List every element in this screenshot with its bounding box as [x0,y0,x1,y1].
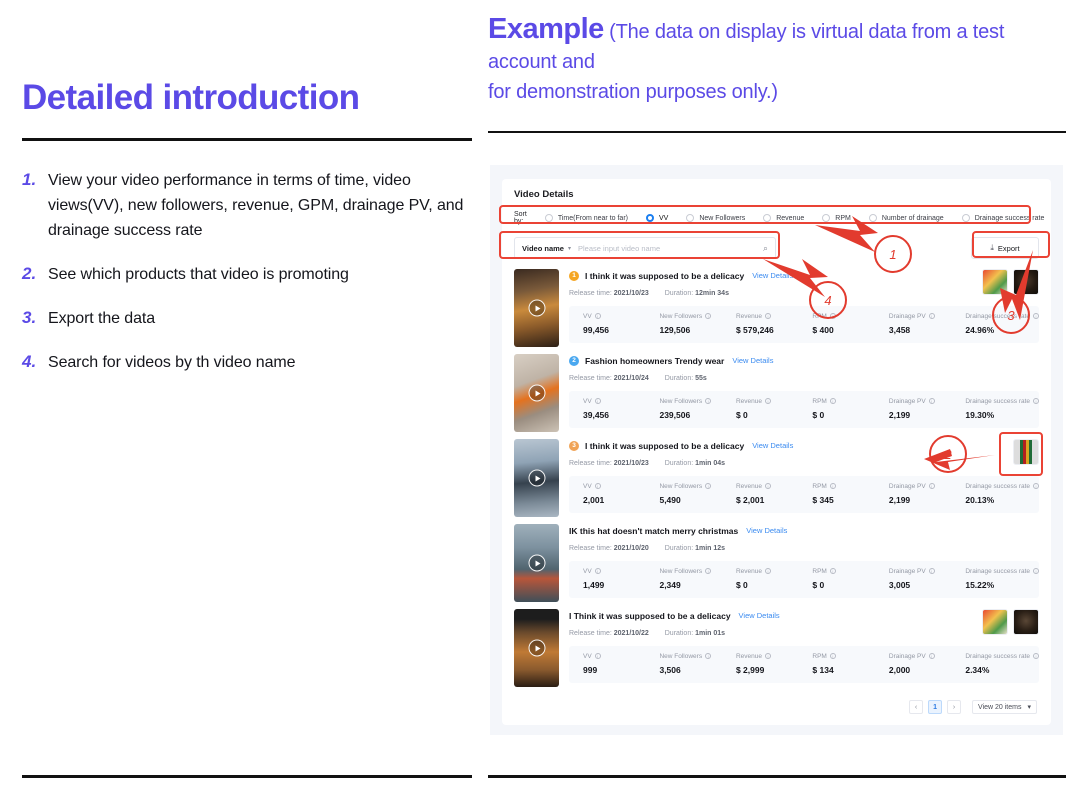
metric-rpm: RPMi $ 400 [798,313,874,335]
sort-option-new-followers[interactable]: New Followers [686,214,745,222]
export-button-label: Export [998,244,1020,253]
video-thumbnail[interactable] [514,524,559,602]
items-per-page-select[interactable]: View 20 items ▾ [972,700,1037,714]
metric-label: Drainage success rate [965,313,1030,320]
metric-label: VV [583,398,592,405]
metric-revenue: Revenuei $ 2,999 [722,653,798,675]
info-icon[interactable]: i [929,398,935,404]
play-icon[interactable] [528,470,545,487]
duration-value: 55s [695,375,707,382]
video-info: 1 I think it was supposed to be a delica… [559,269,1039,352]
example-heading-line1: Example (The data on display is virtual … [488,14,1066,77]
view-details-link[interactable]: View Details [746,526,787,535]
list-item-text: View your video performance in terms of … [48,168,467,243]
duration-label: Duration: [665,545,693,552]
slide-root: Detailed introduction 1. View your video… [0,0,1073,799]
metrics-strip: VVi 999 New Followersi 3,506 Revenuei $ … [569,646,1039,683]
metric-new-followers: New Followersi 3,506 [645,653,721,675]
release-time-value: 2021/10/20 [614,545,649,552]
video-details-panel: Video Details Sort by: Time(From near to… [502,179,1051,725]
metric-drainage-pv: Drainage PVi 2,199 [875,398,951,420]
metric-label: Revenue [736,313,762,320]
metric-value: 19.30% [965,410,1039,420]
metric-rpm: RPMi $ 0 [798,568,874,590]
search-placeholder: Please input video name [578,244,763,253]
metric-label: New Followers [659,653,702,660]
duration-value: 1min 01s [695,630,725,637]
list-item: 1. View your video performance in terms … [22,168,467,243]
sort-option-label: VV [659,215,668,222]
list-item-text: Export the data [48,306,155,331]
info-icon[interactable]: i [830,313,836,319]
metrics-strip: VVi 39,456 New Followersi 239,506 Revenu… [569,391,1039,428]
metric-value: 3,506 [659,665,721,675]
example-heading-line2: for demonstration purposes only.) [488,77,1066,107]
sort-option-number-of-drainage[interactable]: Number of drainage [869,214,944,222]
search-input[interactable]: Video name ▾ Please input video name ⌕ [514,237,776,259]
view-details-link[interactable]: View Details [739,611,780,620]
table-row[interactable]: IK this hat doesn't match merry christma… [514,524,1039,607]
sort-bar[interactable]: Sort by: Time(From near to far) VV New F… [514,210,1039,226]
video-meta: Release time: 2021/10/23 Duration: 12min… [569,290,1039,297]
sort-option-label: RPM [835,215,851,222]
metric-drainage-success-rate: Drainage success ratei 2.34% [951,653,1039,675]
metric-label: RPM [812,653,826,660]
metric-value: 15.22% [965,580,1039,590]
metric-drainage-pv: Drainage PVi 2,000 [875,653,951,675]
metric-value: 5,490 [659,495,721,505]
info-icon[interactable]: i [765,313,771,319]
metric-value: 2,000 [889,665,951,675]
info-icon[interactable]: i [929,483,935,489]
video-title: I think it was supposed to be a delicacy [585,441,744,451]
metric-value: $ 134 [812,665,874,675]
metric-value: 39,456 [583,410,645,420]
info-icon[interactable]: i [929,568,935,574]
info-icon[interactable]: i [765,568,771,574]
metric-value: 1,499 [583,580,645,590]
info-icon[interactable]: i [1033,313,1039,319]
metric-label: Drainage success rate [965,483,1030,490]
video-info: 2 Fashion homeowners Trendy wear View De… [559,354,1039,437]
metric-label: VV [583,568,592,575]
duration-label: Duration: [665,375,693,382]
metric-label: New Followers [659,568,702,575]
release-time-value: 2021/10/23 [614,460,649,467]
chevron-down-icon[interactable]: ▾ [568,245,571,252]
video-meta: Release time: 2021/10/20 Duration: 1min … [569,545,1039,552]
list-item: 2. See which products that video is prom… [22,262,467,287]
metric-vv: VVi 999 [569,653,645,675]
metric-label: Drainage PV [889,568,926,575]
left-panel: Detailed introduction 1. View your video… [0,0,480,799]
sort-option-revenue[interactable]: Revenue [763,214,804,222]
metric-label: VV [583,313,592,320]
sort-by-label: Sort by: [514,211,527,225]
metric-label: New Followers [659,398,702,405]
list-item-number: 4. [22,350,48,374]
duration-value: 1min 04s [695,460,725,467]
sort-option-label: Time(From near to far) [558,215,628,222]
video-info: IK this hat doesn't match merry christma… [559,524,1039,607]
release-time-value: 2021/10/23 [614,290,649,297]
video-thumbnail[interactable] [514,609,559,687]
radio-icon[interactable] [545,214,553,222]
video-title-row: 1 I think it was supposed to be a delica… [569,269,1039,282]
metric-value: 2,001 [583,495,645,505]
metric-vv: VVi 99,456 [569,313,645,335]
metric-revenue: Revenuei $ 2,001 [722,483,798,505]
release-time-label: Release time: [569,630,612,637]
metric-value: $ 0 [812,580,874,590]
metric-value: 2,349 [659,580,721,590]
metric-new-followers: New Followersi 2,349 [645,568,721,590]
metrics-strip: VVi 1,499 New Followersi 2,349 Revenuei … [569,561,1039,598]
metric-value: 2.34% [965,665,1039,675]
metric-value: 99,456 [583,325,645,335]
duration-value: 12min 34s [695,290,729,297]
info-icon[interactable]: i [830,653,836,659]
rank-badge: 1 [569,271,579,281]
sort-option-label: Number of drainage [882,215,944,222]
info-icon[interactable]: i [705,398,711,404]
metric-vv: VVi 39,456 [569,398,645,420]
items-per-page-label: View 20 items [978,704,1021,711]
export-button[interactable]: ⤓ Export [971,237,1039,259]
sort-option-time[interactable]: Time(From near to far) [545,214,628,222]
table-row[interactable]: 3 I think it was supposed to be a delica… [514,439,1039,522]
video-meta: Release time: 2021/10/22 Duration: 1min … [569,630,1039,637]
page-title: Detailed introduction [22,78,359,118]
duration-value: 1min 12s [695,545,725,552]
info-icon[interactable]: i [830,568,836,574]
footer-divider-right [488,775,1066,778]
product-list [982,269,1039,295]
list-item-number: 1. [22,168,48,192]
info-icon[interactable]: i [705,313,711,319]
info-icon[interactable]: i [595,398,601,404]
list-item-number: 2. [22,262,48,286]
product-thumbnail[interactable] [982,609,1008,635]
release-time-label: Release time: [569,545,612,552]
metric-value: 24.96% [965,325,1039,335]
metric-revenue: Revenuei $ 0 [722,398,798,420]
metric-new-followers: New Followersi 5,490 [645,483,721,505]
metric-drainage-success-rate: Drainage success ratei 24.96% [951,313,1039,335]
release-time-value: 2021/10/24 [614,375,649,382]
radio-icon[interactable] [822,214,830,222]
metric-label: RPM [812,313,826,320]
table-row[interactable]: 2 Fashion homeowners Trendy wear View De… [514,354,1039,437]
metric-label: RPM [812,568,826,575]
video-title: Fashion homeowners Trendy wear [585,356,724,366]
video-thumbnail[interactable] [514,269,559,347]
product-thumbnail[interactable] [1013,269,1039,295]
info-icon[interactable]: i [1033,568,1039,574]
video-title: I think it was supposed to be a delicacy [585,271,744,281]
metric-vv: VVi 1,499 [569,568,645,590]
info-icon[interactable]: i [595,568,601,574]
prev-page-button[interactable]: ‹ [909,700,923,714]
app-screenshot: Video Details Sort by: Time(From near to… [490,165,1063,735]
metric-rpm: RPMi $ 134 [798,653,874,675]
info-icon[interactable]: i [705,568,711,574]
video-title: IK this hat doesn't match merry christma… [569,526,738,536]
metric-label: VV [583,653,592,660]
heading-divider [488,131,1066,133]
product-list [982,609,1039,635]
metric-rpm: RPMi $ 0 [798,398,874,420]
metric-value: $ 345 [812,495,874,505]
view-details-link[interactable]: View Details [752,271,793,280]
video-meta: Release time: 2021/10/24 Duration: 55s [569,375,1039,382]
info-icon[interactable]: i [830,398,836,404]
metric-drainage-pv: Drainage PVi 3,458 [875,313,951,335]
radio-icon[interactable] [962,214,970,222]
info-icon[interactable]: i [765,483,771,489]
metric-label: Revenue [736,653,762,660]
download-icon: ⤓ [990,243,994,253]
play-icon[interactable] [528,300,545,317]
metrics-strip: VVi 2,001 New Followersi 5,490 Revenuei … [569,476,1039,513]
metric-label: Revenue [736,398,762,405]
pagination: ‹ 1 › View 20 items ▾ [514,700,1039,714]
list-item-text: Search for videos by th video name [48,350,295,375]
metric-label: Drainage success rate [965,568,1030,575]
release-time-label: Release time: [569,375,612,382]
video-info: 3 I think it was supposed to be a delica… [559,439,1039,522]
rank-badge: 3 [569,441,579,451]
metric-vv: VVi 2,001 [569,483,645,505]
search-field-selector[interactable]: Video name [522,244,564,253]
duration-label: Duration: [665,290,693,297]
metric-label: Drainage PV [889,483,926,490]
metric-value: $ 0 [736,580,798,590]
table-row[interactable]: I Think it was supposed to be a delicacy… [514,609,1039,692]
product-thumbnail[interactable] [982,269,1008,295]
info-icon[interactable]: i [1033,398,1039,404]
metric-label: RPM [812,483,826,490]
list-item: 4. Search for videos by th video name [22,350,467,375]
search-toolbar: Video name ▾ Please input video name ⌕ ⤓… [514,237,1039,259]
release-time-label: Release time: [569,290,612,297]
metric-drainage-success-rate: Drainage success ratei 20.13% [951,483,1039,505]
metric-label: Drainage PV [889,313,926,320]
video-title-row: I Think it was supposed to be a delicacy… [569,609,1039,622]
metric-new-followers: New Followersi 129,506 [645,313,721,335]
metric-value: 20.13% [965,495,1039,505]
metric-label: New Followers [659,483,702,490]
metric-value: 2,199 [889,495,951,505]
metric-drainage-success-rate: Drainage success ratei 15.22% [951,568,1039,590]
duration-label: Duration: [665,630,693,637]
metric-new-followers: New Followersi 239,506 [645,398,721,420]
panel-title: Video Details [514,189,1039,200]
metric-label: VV [583,483,592,490]
radio-icon[interactable] [686,214,694,222]
metric-value: $ 2,001 [736,495,798,505]
metric-value: 239,506 [659,410,721,420]
product-list [1013,439,1039,465]
info-icon[interactable]: i [705,483,711,489]
info-icon[interactable]: i [830,483,836,489]
info-icon[interactable]: i [595,653,601,659]
metric-label: New Followers [659,313,702,320]
metrics-strip: VVi 99,456 New Followersi 129,506 Revenu… [569,306,1039,343]
product-thumbnail[interactable] [1013,439,1039,465]
play-icon[interactable] [528,385,545,402]
info-icon[interactable]: i [929,653,935,659]
release-time-label: Release time: [569,460,612,467]
video-title-row: 2 Fashion homeowners Trendy wear View De… [569,354,1039,367]
view-details-link[interactable]: View Details [732,356,773,365]
play-icon[interactable] [528,555,545,572]
info-icon[interactable]: i [1033,483,1039,489]
duration-label: Duration: [665,460,693,467]
info-icon[interactable]: i [765,653,771,659]
info-icon[interactable]: i [595,313,601,319]
radio-icon[interactable] [869,214,877,222]
radio-icon[interactable] [763,214,771,222]
sort-option-label: Drainage success rate [975,215,1045,222]
metric-label: Drainage success rate [965,398,1030,405]
example-heading: Example (The data on display is virtual … [488,14,1066,107]
example-label: Example [488,13,604,45]
metric-label: Drainage success rate [965,653,1030,660]
info-icon[interactable]: i [595,483,601,489]
page-number-1[interactable]: 1 [928,700,942,714]
next-page-button[interactable]: › [947,700,961,714]
video-meta: Release time: 2021/10/23 Duration: 1min … [569,460,1039,467]
sort-option-rpm[interactable]: RPM [822,214,851,222]
product-thumbnail[interactable] [1013,609,1039,635]
rank-badge: 2 [569,356,579,366]
right-panel: Example (The data on display is virtual … [480,0,1073,799]
sort-option-drainage-success-rate[interactable]: Drainage success rate [962,214,1045,222]
metric-value: 129,506 [659,325,721,335]
metric-label: Revenue [736,568,762,575]
metric-value: 3,458 [889,325,951,335]
metric-value: $ 0 [812,410,874,420]
metric-value: 3,005 [889,580,951,590]
sort-option-label: Revenue [776,215,804,222]
video-info: I Think it was supposed to be a delicacy… [559,609,1039,692]
video-title-row: IK this hat doesn't match merry christma… [569,524,1039,537]
metric-label: Drainage PV [889,398,926,405]
metric-value: $ 400 [812,325,874,335]
metric-drainage-pv: Drainage PVi 2,199 [875,483,951,505]
info-icon[interactable]: i [705,653,711,659]
play-icon[interactable] [528,640,545,657]
metric-drainage-success-rate: Drainage success ratei 19.30% [951,398,1039,420]
metric-value: 999 [583,665,645,675]
intro-list: 1. View your video performance in terms … [22,168,467,394]
radio-selected-icon[interactable] [646,214,654,222]
metric-value: $ 579,246 [736,325,798,335]
info-icon[interactable]: i [765,398,771,404]
table-row[interactable]: 1 I think it was supposed to be a delica… [514,269,1039,352]
video-thumbnail[interactable] [514,354,559,432]
view-details-link[interactable]: View Details [752,441,793,450]
metric-value: 2,199 [889,410,951,420]
metric-label: Revenue [736,483,762,490]
metric-label: Drainage PV [889,653,926,660]
footer-divider-left [22,775,472,778]
search-icon[interactable]: ⌕ [763,243,768,254]
metric-value: $ 0 [736,410,798,420]
video-thumbnail[interactable] [514,439,559,517]
metric-label: RPM [812,398,826,405]
info-icon[interactable]: i [929,313,935,319]
video-title-row: 3 I think it was supposed to be a delica… [569,439,1039,452]
metric-revenue: Revenuei $ 579,246 [722,313,798,335]
list-item-text: See which products that video is promoti… [48,262,349,287]
sort-option-label: New Followers [699,215,745,222]
metric-rpm: RPMi $ 345 [798,483,874,505]
metric-value: $ 2,999 [736,665,798,675]
metric-drainage-pv: Drainage PVi 3,005 [875,568,951,590]
video-title: I Think it was supposed to be a delicacy [569,611,731,621]
video-list: 1 I think it was supposed to be a delica… [514,269,1039,692]
metric-revenue: Revenuei $ 0 [722,568,798,590]
sort-option-vv[interactable]: VV [646,214,668,222]
info-icon[interactable]: i [1033,653,1039,659]
list-item: 3. Export the data [22,306,467,331]
chevron-down-icon[interactable]: ▾ [1027,703,1031,711]
list-item-number: 3. [22,306,48,330]
release-time-value: 2021/10/22 [614,630,649,637]
title-divider [22,138,472,141]
